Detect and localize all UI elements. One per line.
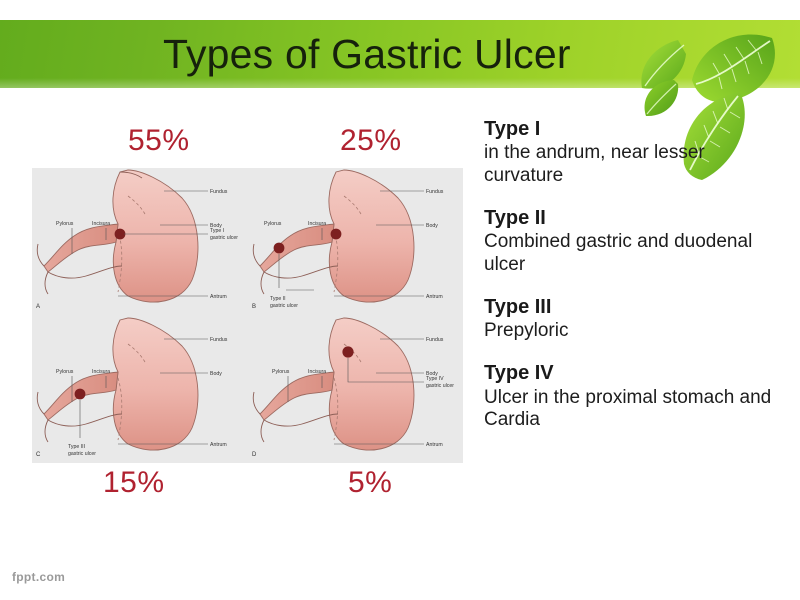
stomach-diagram-panel: Fundus Body Type I gastric ulcer Antrum …: [32, 168, 463, 463]
type-4-description: Ulcer in the proximal stomach and Cardia: [484, 387, 784, 433]
ulcer-type-entry-1: Type I in the andrum, near lesser curvat…: [484, 118, 784, 188]
label-ulcer-a: Type I: [210, 228, 224, 234]
stomach-panel-d: Fundus Body Type IV gastric ulcer Antrum…: [248, 316, 463, 463]
percent-type-1: 55%: [128, 124, 190, 158]
type-4-title: Type IV: [484, 362, 784, 384]
label-antrum-c: Antrum: [210, 442, 227, 448]
label-incisura-d: Incisura: [308, 369, 326, 375]
label-fundus-c: Fundus: [210, 337, 228, 343]
label-ulcer-b-2: gastric ulcer: [270, 303, 298, 309]
stomach-panel-c: Fundus Body Antrum Pylorus Incisura Type…: [32, 316, 247, 463]
label-body-c: Body: [210, 371, 222, 377]
panel-letter-a: A: [36, 304, 40, 310]
label-antrum-d: Antrum: [426, 442, 443, 448]
label-antrum-b: Antrum: [426, 294, 443, 300]
label-ulcer-c: Type III: [68, 444, 85, 450]
label-ulcer-b: Type II: [270, 296, 286, 302]
slide-root: Types of Gastric Ulcer: [0, 0, 800, 600]
type-2-title: Type II: [484, 207, 784, 229]
panel-letter-b: B: [252, 304, 256, 310]
ulcer-type-entry-2: Type II Combined gastric and duodenal ul…: [484, 207, 784, 277]
label-ulcer-a-2: gastric ulcer: [210, 235, 238, 241]
label-antrum-a: Antrum: [210, 294, 227, 300]
watermark: fppt.com: [12, 570, 65, 584]
percent-type-4: 5%: [348, 466, 392, 500]
leaf-large-icon: [692, 34, 775, 102]
label-incisura-b: Incisura: [308, 221, 326, 227]
label-pylorus-d: Pylorus: [272, 369, 290, 375]
stomach-illustration-a: Fundus Body Type I gastric ulcer Antrum …: [32, 168, 247, 315]
label-incisura-c: Incisura: [92, 369, 110, 375]
percent-type-3: 15%: [103, 466, 165, 500]
ulcer-marker: [331, 229, 342, 240]
label-pylorus-c: Pylorus: [56, 369, 74, 375]
stomach-illustration-b: Fundus Body Antrum Pylorus Incisura Type…: [248, 168, 463, 315]
label-pylorus-a: Pylorus: [56, 221, 74, 227]
page-title: Types of Gastric Ulcer: [163, 20, 683, 88]
type-1-title: Type I: [484, 118, 784, 140]
ulcer-marker: [342, 346, 353, 357]
ulcer-marker: [75, 389, 86, 400]
label-fundus-d: Fundus: [426, 337, 444, 343]
type-3-description: Prepyloric: [484, 320, 784, 343]
stomach-illustration-d: Fundus Body Type IV gastric ulcer Antrum…: [248, 316, 463, 463]
type-2-description: Combined gastric and duodenal ulcer: [484, 231, 784, 277]
ulcer-marker: [115, 229, 126, 240]
ulcer-marker-duodenal: [274, 243, 285, 254]
ulcer-type-list: Type I in the andrum, near lesser curvat…: [484, 118, 784, 432]
stomach-panel-b: Fundus Body Antrum Pylorus Incisura Type…: [248, 168, 463, 315]
type-3-title: Type III: [484, 296, 784, 318]
label-body-b: Body: [426, 223, 438, 229]
stomach-panel-a: Fundus Body Type I gastric ulcer Antrum …: [32, 168, 247, 315]
label-fundus-b: Fundus: [426, 189, 444, 195]
label-incisura-a: Incisura: [92, 221, 110, 227]
leaf-small-icon: [641, 40, 686, 89]
panel-letter-c: C: [36, 452, 41, 458]
label-ulcer-d-2: gastric ulcer: [426, 383, 454, 389]
panel-letter-d: D: [252, 452, 257, 458]
ulcer-type-entry-4: Type IV Ulcer in the proximal stomach an…: [484, 362, 784, 432]
ulcer-type-entry-3: Type III Prepyloric: [484, 296, 784, 343]
type-1-description: in the andrum, near lesser curvature: [484, 142, 784, 188]
label-ulcer-c-2: gastric ulcer: [68, 451, 96, 457]
stomach-illustration-c: Fundus Body Antrum Pylorus Incisura Type…: [32, 316, 247, 463]
label-fundus-a: Fundus: [210, 189, 228, 195]
percent-type-2: 25%: [340, 124, 402, 158]
label-ulcer-d: Type IV: [426, 376, 444, 382]
label-pylorus-b: Pylorus: [264, 221, 282, 227]
